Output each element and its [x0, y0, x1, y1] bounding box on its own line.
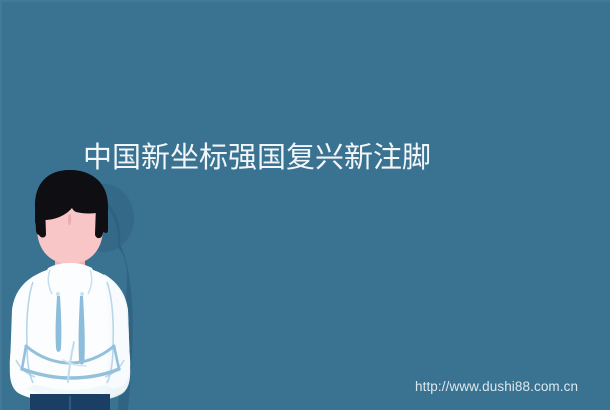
pants: [30, 394, 110, 410]
page-title: 中国新坐标强国复兴新注脚: [0, 141, 610, 175]
watermark-url: http://www.dushi88.com.cn: [415, 379, 578, 395]
person-illustration: [0, 170, 160, 410]
image-canvas: 中国新坐标强国复兴新注脚 http://www.dushi88.com.cn: [0, 0, 610, 410]
